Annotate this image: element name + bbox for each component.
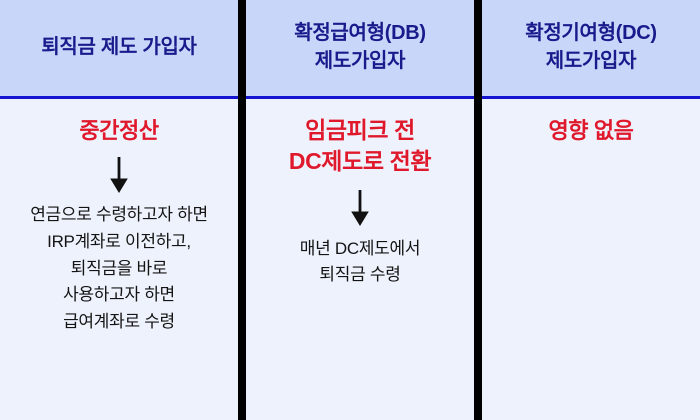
body-cell-defined-benefit-db-plan: 임금피크 전 DC제도로 전환 매년 DC제도에서 퇴직금 수령 bbox=[246, 99, 474, 420]
column-severance-pay-plan: 퇴직금 제도 가입자 중간정산 연금으로 수령하고자 하면 IRP계좌로 이전하… bbox=[0, 0, 238, 420]
headline-line: 중간정산 bbox=[79, 116, 158, 146]
column-defined-benefit-db-plan: 확정급여형(DB) 제도가입자 임금피크 전 DC제도로 전환 매년 DC제도에… bbox=[246, 0, 474, 420]
body-line: IRP계좌로 이전하고, bbox=[30, 229, 208, 256]
headline-defined-contribution-dc-plan: 영향 없음 bbox=[548, 116, 633, 146]
header-line: 확정기여형(DC) bbox=[525, 20, 657, 48]
body-line: 매년 DC제도에서 bbox=[300, 236, 420, 263]
header-line: 제도가입자 bbox=[315, 48, 406, 76]
header-line: 제도가입자 bbox=[546, 48, 637, 76]
header-line: 확정급여형(DB) bbox=[294, 20, 426, 48]
body-text-severance-pay-plan: 연금으로 수령하고자 하면 IRP계좌로 이전하고, 퇴직금을 바로 사용하고자… bbox=[30, 202, 208, 336]
column-group: 퇴직금 제도 가입자 중간정산 연금으로 수령하고자 하면 IRP계좌로 이전하… bbox=[0, 0, 700, 420]
header-cell-defined-benefit-db-plan: 확정급여형(DB) 제도가입자 bbox=[246, 0, 474, 99]
body-line: 급여계좌로 수령 bbox=[30, 309, 208, 336]
column-divider-1 bbox=[238, 0, 246, 420]
header-cell-defined-contribution-dc-plan: 확정기여형(DC) 제도가입자 bbox=[482, 0, 700, 99]
down-arrow-icon bbox=[108, 157, 130, 193]
headline-line: 영향 없음 bbox=[548, 116, 633, 146]
headline-severance-pay-plan: 중간정산 bbox=[79, 116, 158, 146]
headline-line: 임금피크 전 bbox=[289, 115, 431, 146]
down-arrow-icon bbox=[349, 190, 371, 226]
body-line: 퇴직금을 바로 bbox=[30, 256, 208, 283]
headline-defined-benefit-db-plan: 임금피크 전 DC제도로 전환 bbox=[289, 115, 431, 178]
column-divider-2 bbox=[474, 0, 482, 420]
body-line: 사용하고자 하면 bbox=[30, 282, 208, 309]
header-line: 퇴직금 제도 가입자 bbox=[41, 34, 196, 62]
body-text-defined-benefit-db-plan: 매년 DC제도에서 퇴직금 수령 bbox=[300, 236, 420, 290]
header-cell-severance-pay-plan: 퇴직금 제도 가입자 bbox=[0, 0, 238, 99]
body-line: 퇴직금 수령 bbox=[300, 262, 420, 289]
body-cell-defined-contribution-dc-plan: 영향 없음 bbox=[482, 99, 700, 420]
infographic-table: 퇴직금 제도 가입자 중간정산 연금으로 수령하고자 하면 IRP계좌로 이전하… bbox=[0, 0, 700, 420]
headline-line: DC제도로 전환 bbox=[289, 146, 431, 177]
column-defined-contribution-dc-plan: 확정기여형(DC) 제도가입자 영향 없음 bbox=[482, 0, 700, 420]
body-cell-severance-pay-plan: 중간정산 연금으로 수령하고자 하면 IRP계좌로 이전하고, 퇴직금을 바로 … bbox=[0, 99, 238, 420]
body-line: 연금으로 수령하고자 하면 bbox=[30, 202, 208, 229]
